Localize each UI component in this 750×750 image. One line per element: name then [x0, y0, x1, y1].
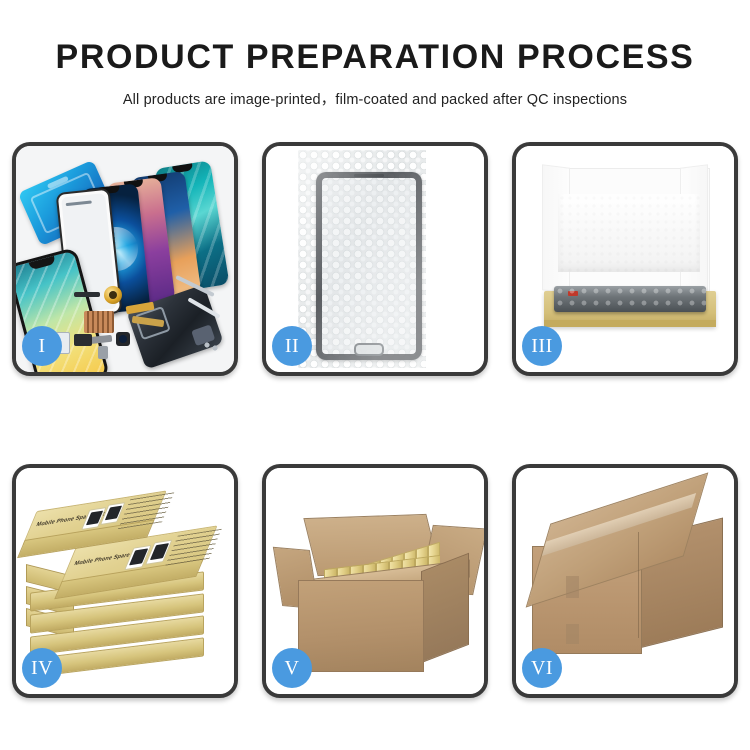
step-badge-6: VI: [522, 648, 562, 688]
screws-icon: [204, 342, 220, 352]
flex-cable-icon: [126, 302, 155, 315]
step-badge-5: V: [272, 648, 312, 688]
step-panel-4: Mobile Phone Spare Parts Mobile Phone Sp…: [12, 464, 238, 698]
button-part-icon: [98, 346, 108, 359]
carton-front: [298, 580, 424, 672]
steps-row-top: 09:08: [12, 142, 738, 376]
page-subtitle: All products are image-printed，film-coat…: [0, 77, 750, 109]
step-panel-5: V: [262, 464, 488, 698]
packed-screen-icon: [554, 286, 706, 312]
product-infographic: PRODUCT PREPARATION PROCESS All products…: [0, 0, 750, 750]
steps-grid: 09:08: [12, 142, 738, 698]
carton-side: [421, 553, 469, 663]
film-gloss: [298, 150, 426, 368]
carton-seam: [638, 532, 639, 638]
pry-tool-icon: [175, 275, 215, 297]
step-badge-4: IV: [22, 648, 62, 688]
page-title: PRODUCT PREPARATION PROCESS: [0, 0, 750, 77]
step-badge-1: I: [22, 326, 62, 366]
pry-tool-icon: [187, 297, 220, 318]
open-carton: [280, 504, 476, 674]
sealed-carton: [532, 502, 728, 664]
step-panel-2: II: [262, 142, 488, 376]
flex-cable-icon: [132, 316, 165, 327]
packing-tape-icon: [566, 576, 579, 598]
speaker-module-icon: [74, 334, 92, 346]
antenna-strip-icon: [74, 292, 100, 297]
kraft-box-top: Mobile Phone Spare Parts: [23, 491, 164, 543]
copper-grid-chip-icon: [84, 311, 114, 333]
step-badge-2: II: [272, 326, 312, 366]
step-panel-1: 09:08: [12, 142, 238, 376]
step-panel-3: III: [512, 142, 738, 376]
step-badge-3: III: [522, 326, 562, 366]
packing-tape-icon: [566, 624, 579, 644]
steps-row-bottom: Mobile Phone Spare Parts Mobile Phone Sp…: [12, 464, 738, 698]
step-panel-6: VI: [512, 464, 738, 698]
vibration-coil-icon: [104, 286, 122, 304]
camera-module-icon: [116, 332, 130, 346]
white-foam-padding-icon: [558, 194, 700, 272]
header: PRODUCT PREPARATION PROCESS All products…: [0, 0, 750, 109]
